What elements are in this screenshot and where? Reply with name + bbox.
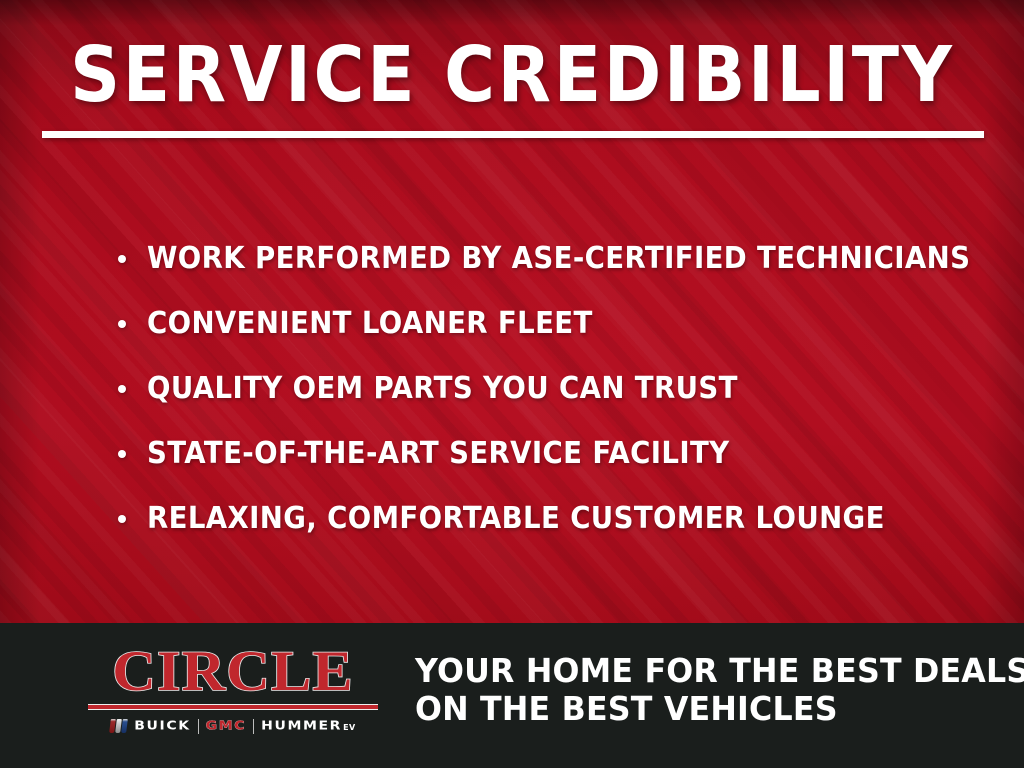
list-item: QUALITY OEM PARTS YOU CAN TRUST [118,356,998,421]
list-item: RELAXING, COMFORTABLE CUSTOMER LOUNGE [118,486,998,551]
slide-title-container: SERVICE CREDIBILITY [0,36,1024,116]
bullet-dot-icon [118,320,126,328]
list-item: STATE-OF-THE-ART SERVICE FACILITY [118,421,998,486]
bullet-text: QUALITY OEM PARTS YOU CAN TRUST [147,373,738,405]
bullet-text: STATE-OF-THE-ART SERVICE FACILITY [147,438,730,470]
brand-hummer-ev-suffix: EV [343,723,356,734]
bullet-list: WORK PERFORMED BY ASE-CERTIFIED TECHNICI… [118,226,998,551]
buick-tri-shield-icon [110,719,127,733]
brand-hummer: HUMMER [261,719,342,733]
dealer-wordmark: CIRCLE [79,646,386,698]
brand-separator-icon [198,719,199,734]
tagline-line-1: YOUR HOME FOR THE BEST DEALS [415,652,1024,690]
title-underline-rule [42,131,984,138]
list-item: WORK PERFORMED BY ASE-CERTIFIED TECHNICI… [118,226,998,291]
bullet-text: CONVENIENT LOANER FLEET [147,308,593,340]
service-credibility-slide: SERVICE CREDIBILITY WORK PERFORMED BY AS… [0,0,1024,768]
brand-lockup: BUICK GMC HUMMER EV [88,717,378,735]
dealer-logo: CIRCLE BUICK GMC HUMMER EV [88,646,378,735]
slide-title: SERVICE CREDIBILITY [70,36,955,116]
bullet-dot-icon [118,450,126,458]
bullet-text: RELAXING, COMFORTABLE CUSTOMER LOUNGE [147,503,885,535]
shield-blue-icon [121,719,128,733]
logo-divider-rule [88,704,378,710]
brand-buick: BUICK [134,719,190,733]
list-item: CONVENIENT LOANER FLEET [118,291,998,356]
bullet-dot-icon [118,385,126,393]
brand-separator-icon [253,719,254,734]
brand-hummer-group: HUMMER EV [261,718,356,734]
tagline-line-2: ON THE BEST VEHICLES [415,690,1024,728]
brand-gmc: GMC [206,719,247,733]
bullet-dot-icon [118,255,126,263]
dealer-tagline: YOUR HOME FOR THE BEST DEALS ON THE BEST… [415,652,1024,728]
bullet-dot-icon [118,515,126,523]
bullet-text: WORK PERFORMED BY ASE-CERTIFIED TECHNICI… [147,243,970,275]
